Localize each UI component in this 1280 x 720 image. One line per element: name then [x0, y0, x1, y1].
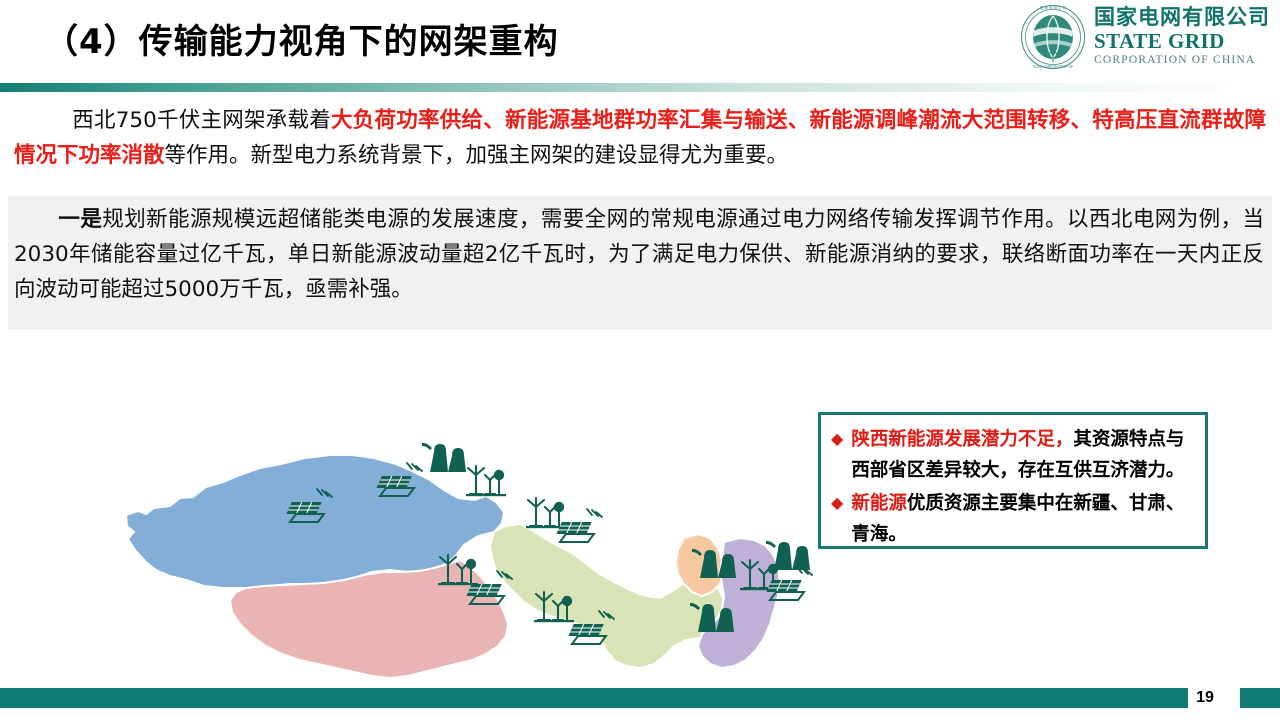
- para2-body: 规划新能源规模远超储能类电源的发展速度，需要全网的常规电源通过电力网络传输发挥调…: [14, 207, 1264, 302]
- para1-segment-3: 等作用。新型电力系统背景下，加强主网架的建设显得尤为重要。: [165, 143, 789, 168]
- logo-company-en-sub: CORPORATION OF CHINA: [1094, 55, 1270, 67]
- svg-text:GRID CORPORATION OF: GRID CORPORATION OF: [1033, 65, 1073, 69]
- footer-bar-left: [0, 688, 1188, 708]
- state-grid-logo: 国 家 电 网 公 司 GRID CORPORATION OF 国家电网有限公司…: [1020, 4, 1270, 70]
- callout-item-text: 新能源优质资源主要集中在新疆、甘肃、青海。: [851, 488, 1195, 550]
- intro-paragraph: 西北750千伏主网架承载着大负荷功率供给、新能源基地群功率汇集与输送、新能源调峰…: [14, 103, 1266, 173]
- para2-lead: 一是: [58, 207, 102, 232]
- para1-segment-1: 西北750千伏主网架承载着: [72, 108, 331, 133]
- page-number: 19: [1182, 688, 1228, 708]
- slide: （4）传输能力视角下的网架重构: [0, 0, 1280, 720]
- key-findings-callout: ◆ 陕西新能源发展潜力不足，其资源特点与西部省区差异较大，存在互供互济潜力。 ◆…: [818, 412, 1208, 549]
- slide-header: （4）传输能力视角下的网架重构: [0, 0, 1280, 88]
- callout-item: ◆ 新能源优质资源主要集中在新疆、甘肃、青海。: [831, 488, 1195, 550]
- callout-item-0-red: 陕西新能源发展潜力不足，: [851, 429, 1073, 450]
- logo-company-cn: 国家电网有限公司: [1094, 7, 1270, 28]
- state-grid-emblem-icon: 国 家 电 网 公 司 GRID CORPORATION OF: [1020, 4, 1086, 70]
- callout-item: ◆ 陕西新能源发展潜力不足，其资源特点与西部省区差异较大，存在互供互济潜力。: [831, 424, 1195, 486]
- cooling-tower-icon: [422, 443, 466, 472]
- wind-turbine-icon: [466, 466, 506, 496]
- point-one-paragraph: 一是规划新能源规模远超储能类电源的发展速度，需要全网的常规电源通过电力网络传输发…: [14, 202, 1264, 307]
- callout-item-text: 陕西新能源发展潜力不足，其资源特点与西部省区差异较大，存在互供互济潜力。: [851, 424, 1195, 486]
- page-title: （4）传输能力视角下的网架重构: [44, 14, 559, 63]
- wind-turbine-icon: [526, 498, 566, 528]
- logo-company-en: STATE GRID: [1094, 31, 1270, 52]
- diamond-bullet-icon: ◆: [831, 488, 843, 519]
- svg-text:国 家 电 网 公 司: 国 家 电 网 公 司: [1040, 5, 1066, 10]
- solar-panel-icon: [556, 509, 602, 542]
- header-divider: [0, 83, 1250, 92]
- footer-bar-right: [1240, 688, 1280, 708]
- callout-item-1-red: 新能源: [851, 493, 907, 514]
- northwest-china-map: [34, 420, 834, 705]
- diamond-bullet-icon: ◆: [831, 424, 843, 455]
